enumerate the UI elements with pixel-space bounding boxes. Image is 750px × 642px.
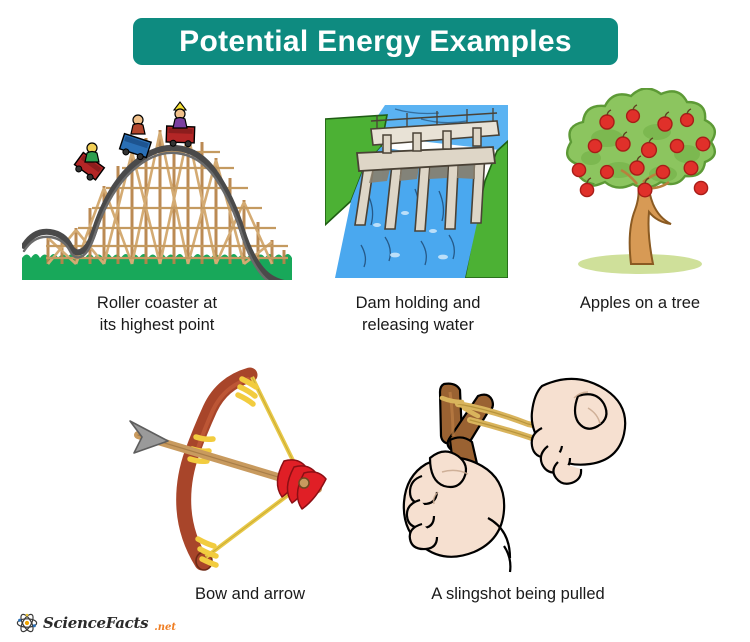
slingshot-illustration: [392, 368, 638, 574]
caption-slingshot: A slingshot being pulled: [388, 583, 648, 605]
atom-icon: [16, 612, 38, 634]
figure-roller-coaster: [22, 88, 292, 280]
page-title: Potential Energy Examples: [179, 27, 572, 57]
roller-coaster-illustration: [22, 88, 292, 280]
page-title-banner: Potential Energy Examples: [133, 18, 618, 65]
logo-name: ScienceFacts: [43, 614, 148, 632]
logo-tld: .net: [154, 622, 176, 634]
figure-apple-tree: [545, 88, 735, 280]
site-logo[interactable]: ScienceFacts .net: [16, 612, 176, 634]
caption-apple-tree: Apples on a tree: [540, 292, 740, 314]
figure-slingshot: [392, 368, 638, 574]
caption-dam: Dam holding and releasing water: [318, 292, 518, 337]
caption-roller-coaster: Roller coaster at its highest point: [22, 292, 292, 337]
bow-and-arrow-illustration: [128, 363, 382, 575]
apple-tree-illustration: [545, 88, 735, 280]
caption-bow-and-arrow: Bow and arrow: [110, 583, 390, 605]
dam-illustration: [325, 105, 508, 278]
infographic-page: Potential Energy Examples: [0, 0, 750, 642]
figure-dam: [325, 105, 508, 278]
figure-bow-and-arrow: [128, 363, 382, 575]
